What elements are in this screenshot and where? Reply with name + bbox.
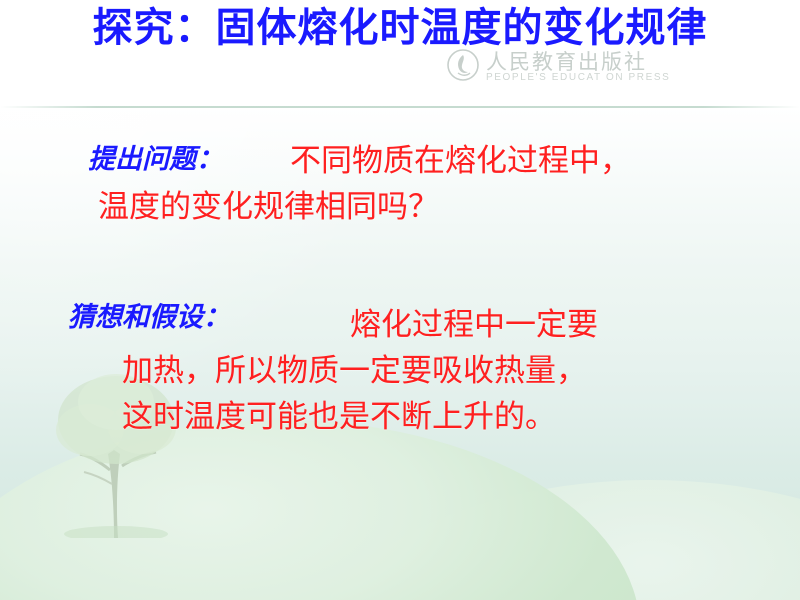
- publisher-name-en: PEOPLE'S EDUCAT ON PRESS: [486, 72, 670, 83]
- section-question: 提出问题： 不同物质在熔化过程中， 温度的变化规律相同吗？: [50, 140, 750, 180]
- section-hypothesis-line-2: 加热，所以物质一定要吸收热量，: [122, 350, 587, 392]
- section-hypothesis-line-1: 熔化过程中一定要: [350, 304, 598, 346]
- section-hypothesis: 猜想和假设： 熔化过程中一定要 加热，所以物质一定要吸收热量， 这时温度可能也是…: [50, 298, 750, 338]
- publisher-logo-icon: [446, 48, 480, 82]
- slide: 探究：固体熔化时温度的变化规律 人民教育出版社 PEOPLE'S EDUCAT …: [0, 0, 800, 600]
- publisher-logo: 人民教育出版社 PEOPLE'S EDUCAT ON PRESS: [446, 48, 666, 96]
- section-question-line-1: 不同物质在熔化过程中，: [290, 140, 631, 182]
- section-question-line-2: 温度的变化规律相同吗？: [98, 186, 439, 228]
- section-hypothesis-line-3: 这时温度可能也是不断上升的。: [122, 396, 556, 438]
- header-divider: [0, 106, 800, 108]
